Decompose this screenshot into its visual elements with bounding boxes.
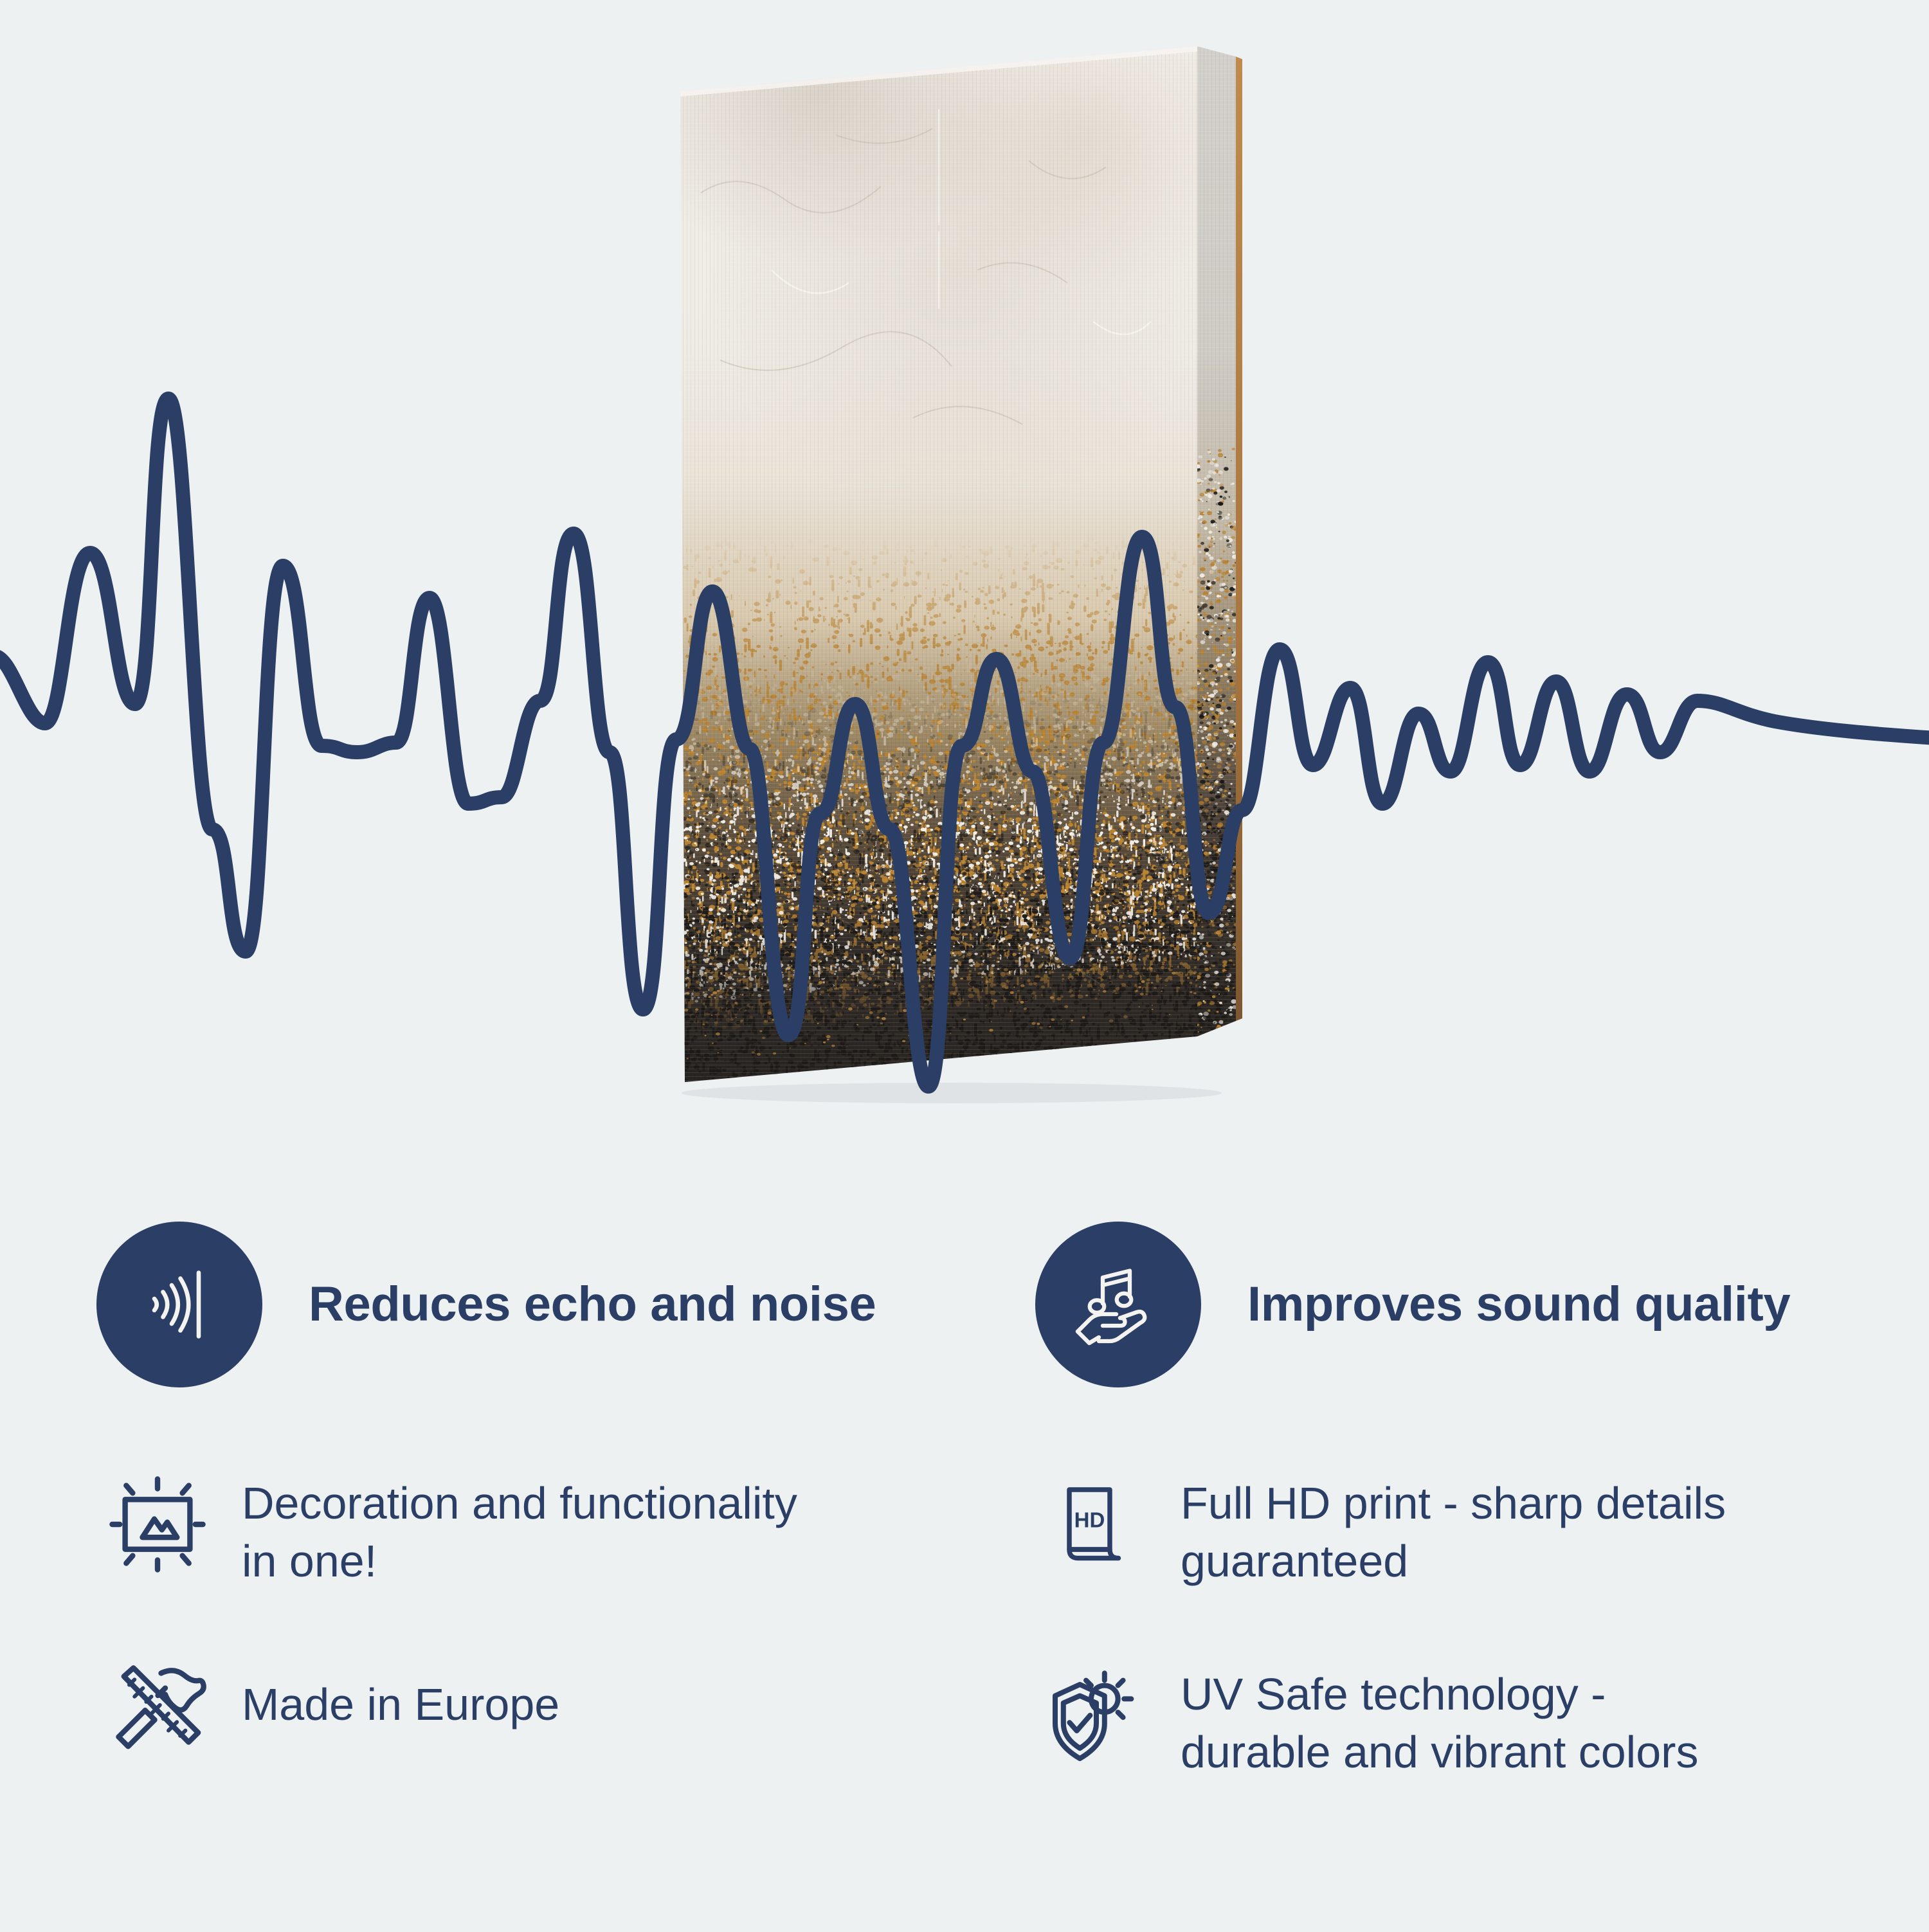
feature-reduces-echo[interactable]: Reduces echo and noise (96, 1222, 1035, 1463)
feature-improves-sound[interactable]: Improves sound quality (1035, 1222, 1852, 1463)
feature-full-hd-print[interactable]: HD Full HD print - sharp detailsguarante… (1035, 1463, 1852, 1654)
feature-label: UV Safe technology -durable and vibrant … (1181, 1654, 1698, 1781)
hd-print-glyph: HD (1048, 1476, 1145, 1573)
uv-shield-sun-icon (1035, 1654, 1157, 1776)
canvas-shadow (682, 1083, 1222, 1103)
feature-label: Made in Europe (242, 1654, 559, 1734)
feature-label: Improves sound quality (1247, 1277, 1790, 1332)
canvas-wood-edge (1236, 57, 1242, 1021)
music-note-hand-glyph (1070, 1256, 1166, 1353)
infographic-stage: Reduces echo and noise (0, 0, 1929, 1929)
sound-wave-wall-icon (96, 1222, 262, 1387)
feature-label: Decoration and functionalityin one! (242, 1463, 797, 1590)
sound-wave-wall-glyph (131, 1256, 228, 1353)
hd-badge-text: HD (1074, 1508, 1105, 1532)
ruler-hammer-glyph (105, 1663, 211, 1769)
canvas-face (675, 39, 1241, 1093)
feature-made-in-europe[interactable]: Made in Europe (96, 1654, 1035, 1845)
ruler-hammer-icon (96, 1654, 219, 1776)
feature-label: Full HD print - sharp detailsguaranteed (1181, 1463, 1726, 1590)
hd-print-icon: HD (1035, 1463, 1157, 1585)
feature-decoration-functionality[interactable]: Decoration and functionalityin one! (96, 1463, 1035, 1654)
uv-shield-sun-glyph (1045, 1664, 1148, 1767)
shining-picture-frame-icon (96, 1463, 219, 1585)
feature-list: Reduces echo and noise (96, 1222, 1852, 1845)
feature-label: Reduces echo and noise (309, 1277, 876, 1332)
shining-picture-frame-glyph (104, 1470, 212, 1578)
music-note-hand-icon (1035, 1222, 1201, 1387)
feature-uv-safe[interactable]: UV Safe technology -durable and vibrant … (1035, 1654, 1852, 1845)
